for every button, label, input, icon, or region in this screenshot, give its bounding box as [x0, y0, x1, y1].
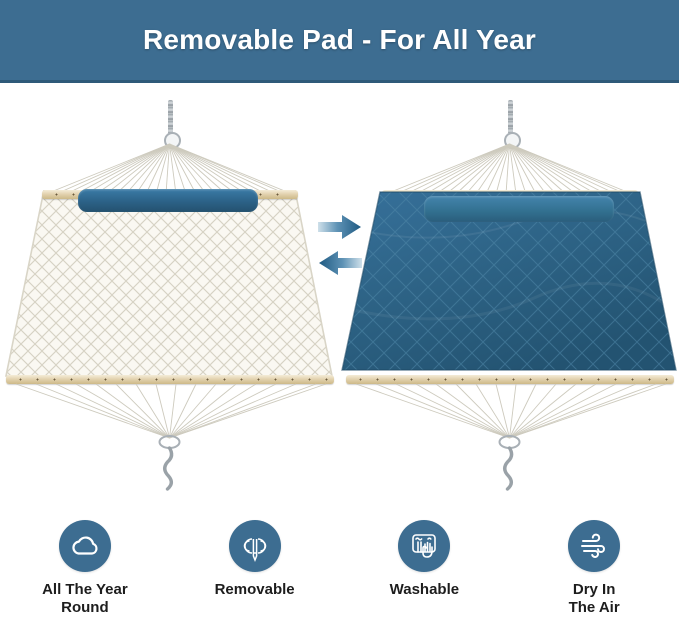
rope-fan-bottom [0, 374, 339, 492]
bolster-pillow [78, 189, 258, 212]
feature-label: Removable [215, 581, 295, 599]
zipper-icon [238, 529, 272, 563]
feature-item-washable: Washable [340, 520, 510, 640]
hanging-chain-icon [508, 100, 513, 134]
feature-list: All The Year Round Removable [0, 520, 679, 640]
wind-icon [577, 529, 611, 563]
hammock-rope-panel [0, 86, 339, 498]
product-comparison-stage [0, 86, 679, 498]
feature-badge [568, 520, 620, 572]
feature-badge [229, 520, 281, 572]
rope-mesh-bed [0, 190, 339, 382]
feature-badge [398, 520, 450, 572]
hand-wash-icon [407, 529, 441, 563]
feature-item-removable: Removable [170, 520, 340, 640]
hammock-padded-panel [340, 86, 679, 498]
hanging-chain-icon [168, 100, 173, 134]
feature-label: Washable [390, 581, 459, 599]
page-title: Removable Pad - For All Year [143, 24, 536, 56]
bolster-pillow [424, 196, 614, 222]
feature-item-all-year-round: All The Year Round [0, 520, 170, 640]
feature-badge [59, 520, 111, 572]
cloud-icon [68, 529, 102, 563]
feature-label: All The Year Round [42, 581, 128, 616]
feature-label: Dry In The Air [569, 581, 620, 616]
rope-fan-bottom [340, 374, 679, 492]
header-banner: Removable Pad - For All Year [0, 0, 679, 83]
feature-item-dry-in-the-air: Dry In The Air [509, 520, 679, 640]
